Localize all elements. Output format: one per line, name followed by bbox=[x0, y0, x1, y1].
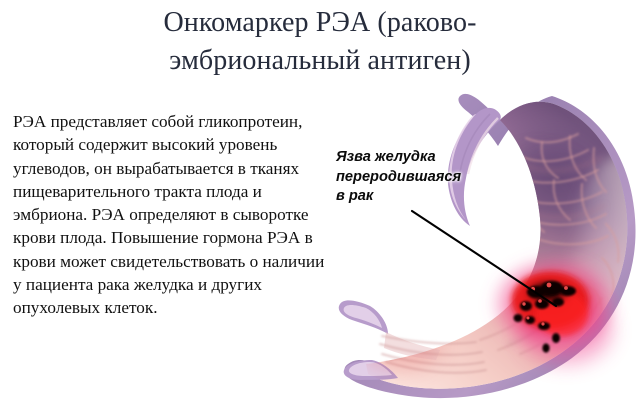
stomach-illustration bbox=[330, 92, 640, 400]
infographic-root: Онкомаркер РЭА (раково- эмбриональный ан… bbox=[0, 0, 640, 400]
description-paragraph: РЭА представляет собой гликопротеин, кот… bbox=[13, 110, 328, 320]
page-title: Онкомаркер РЭА (раково- эмбриональный ан… bbox=[40, 4, 600, 80]
lesion-callout-label: Язва желудка переродившаяся в рак bbox=[336, 148, 496, 207]
